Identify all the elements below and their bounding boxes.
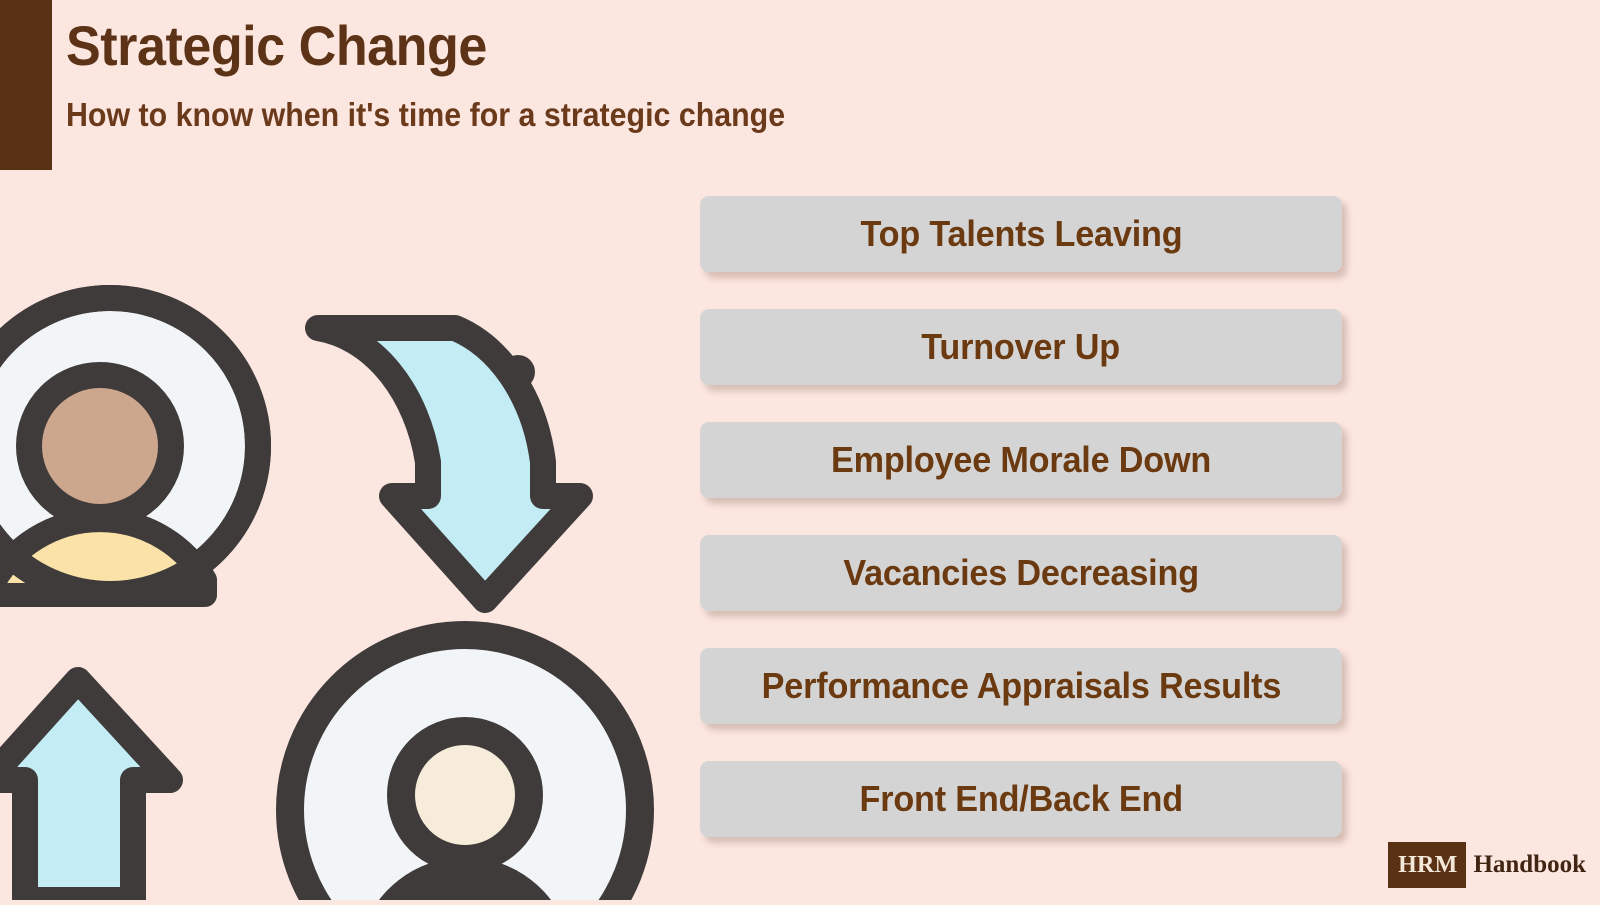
signal-bar-2[interactable]: Turnover Up — [700, 309, 1342, 385]
signal-bar-6[interactable]: Front End/Back End — [700, 761, 1342, 837]
signal-label: Top Talents Leaving — [860, 213, 1182, 255]
signal-bar-4[interactable]: Vacancies Decreasing — [700, 535, 1342, 611]
signal-list: Top Talents Leaving Turnover Up Employee… — [700, 196, 1342, 837]
user-avatar-icon — [290, 635, 640, 900]
logo-wordmark: Handbook — [1466, 842, 1586, 888]
page-subtitle: How to know when it's time for a strateg… — [66, 98, 785, 131]
signal-bar-3[interactable]: Employee Morale Down — [700, 422, 1342, 498]
user-avatar-icon — [0, 298, 258, 595]
signal-label: Performance Appraisals Results — [761, 665, 1281, 707]
signal-bar-1[interactable]: Top Talents Leaving — [700, 196, 1342, 272]
signal-bar-5[interactable]: Performance Appraisals Results — [700, 648, 1342, 724]
signal-label: Vacancies Decreasing — [843, 552, 1199, 594]
logo-mark: HRM — [1388, 842, 1466, 888]
up-arrow-icon — [0, 680, 170, 900]
signal-label: Employee Morale Down — [831, 439, 1211, 481]
signal-label: Turnover Up — [922, 326, 1121, 368]
page-title: Strategic Change — [66, 18, 487, 74]
curved-down-arrow-icon — [318, 328, 580, 600]
illustration-group — [0, 250, 690, 900]
header-accent-bar — [0, 0, 52, 170]
signal-label: Front End/Back End — [859, 778, 1182, 820]
hrm-handbook-logo[interactable]: HRM Handbook — [1388, 842, 1586, 888]
